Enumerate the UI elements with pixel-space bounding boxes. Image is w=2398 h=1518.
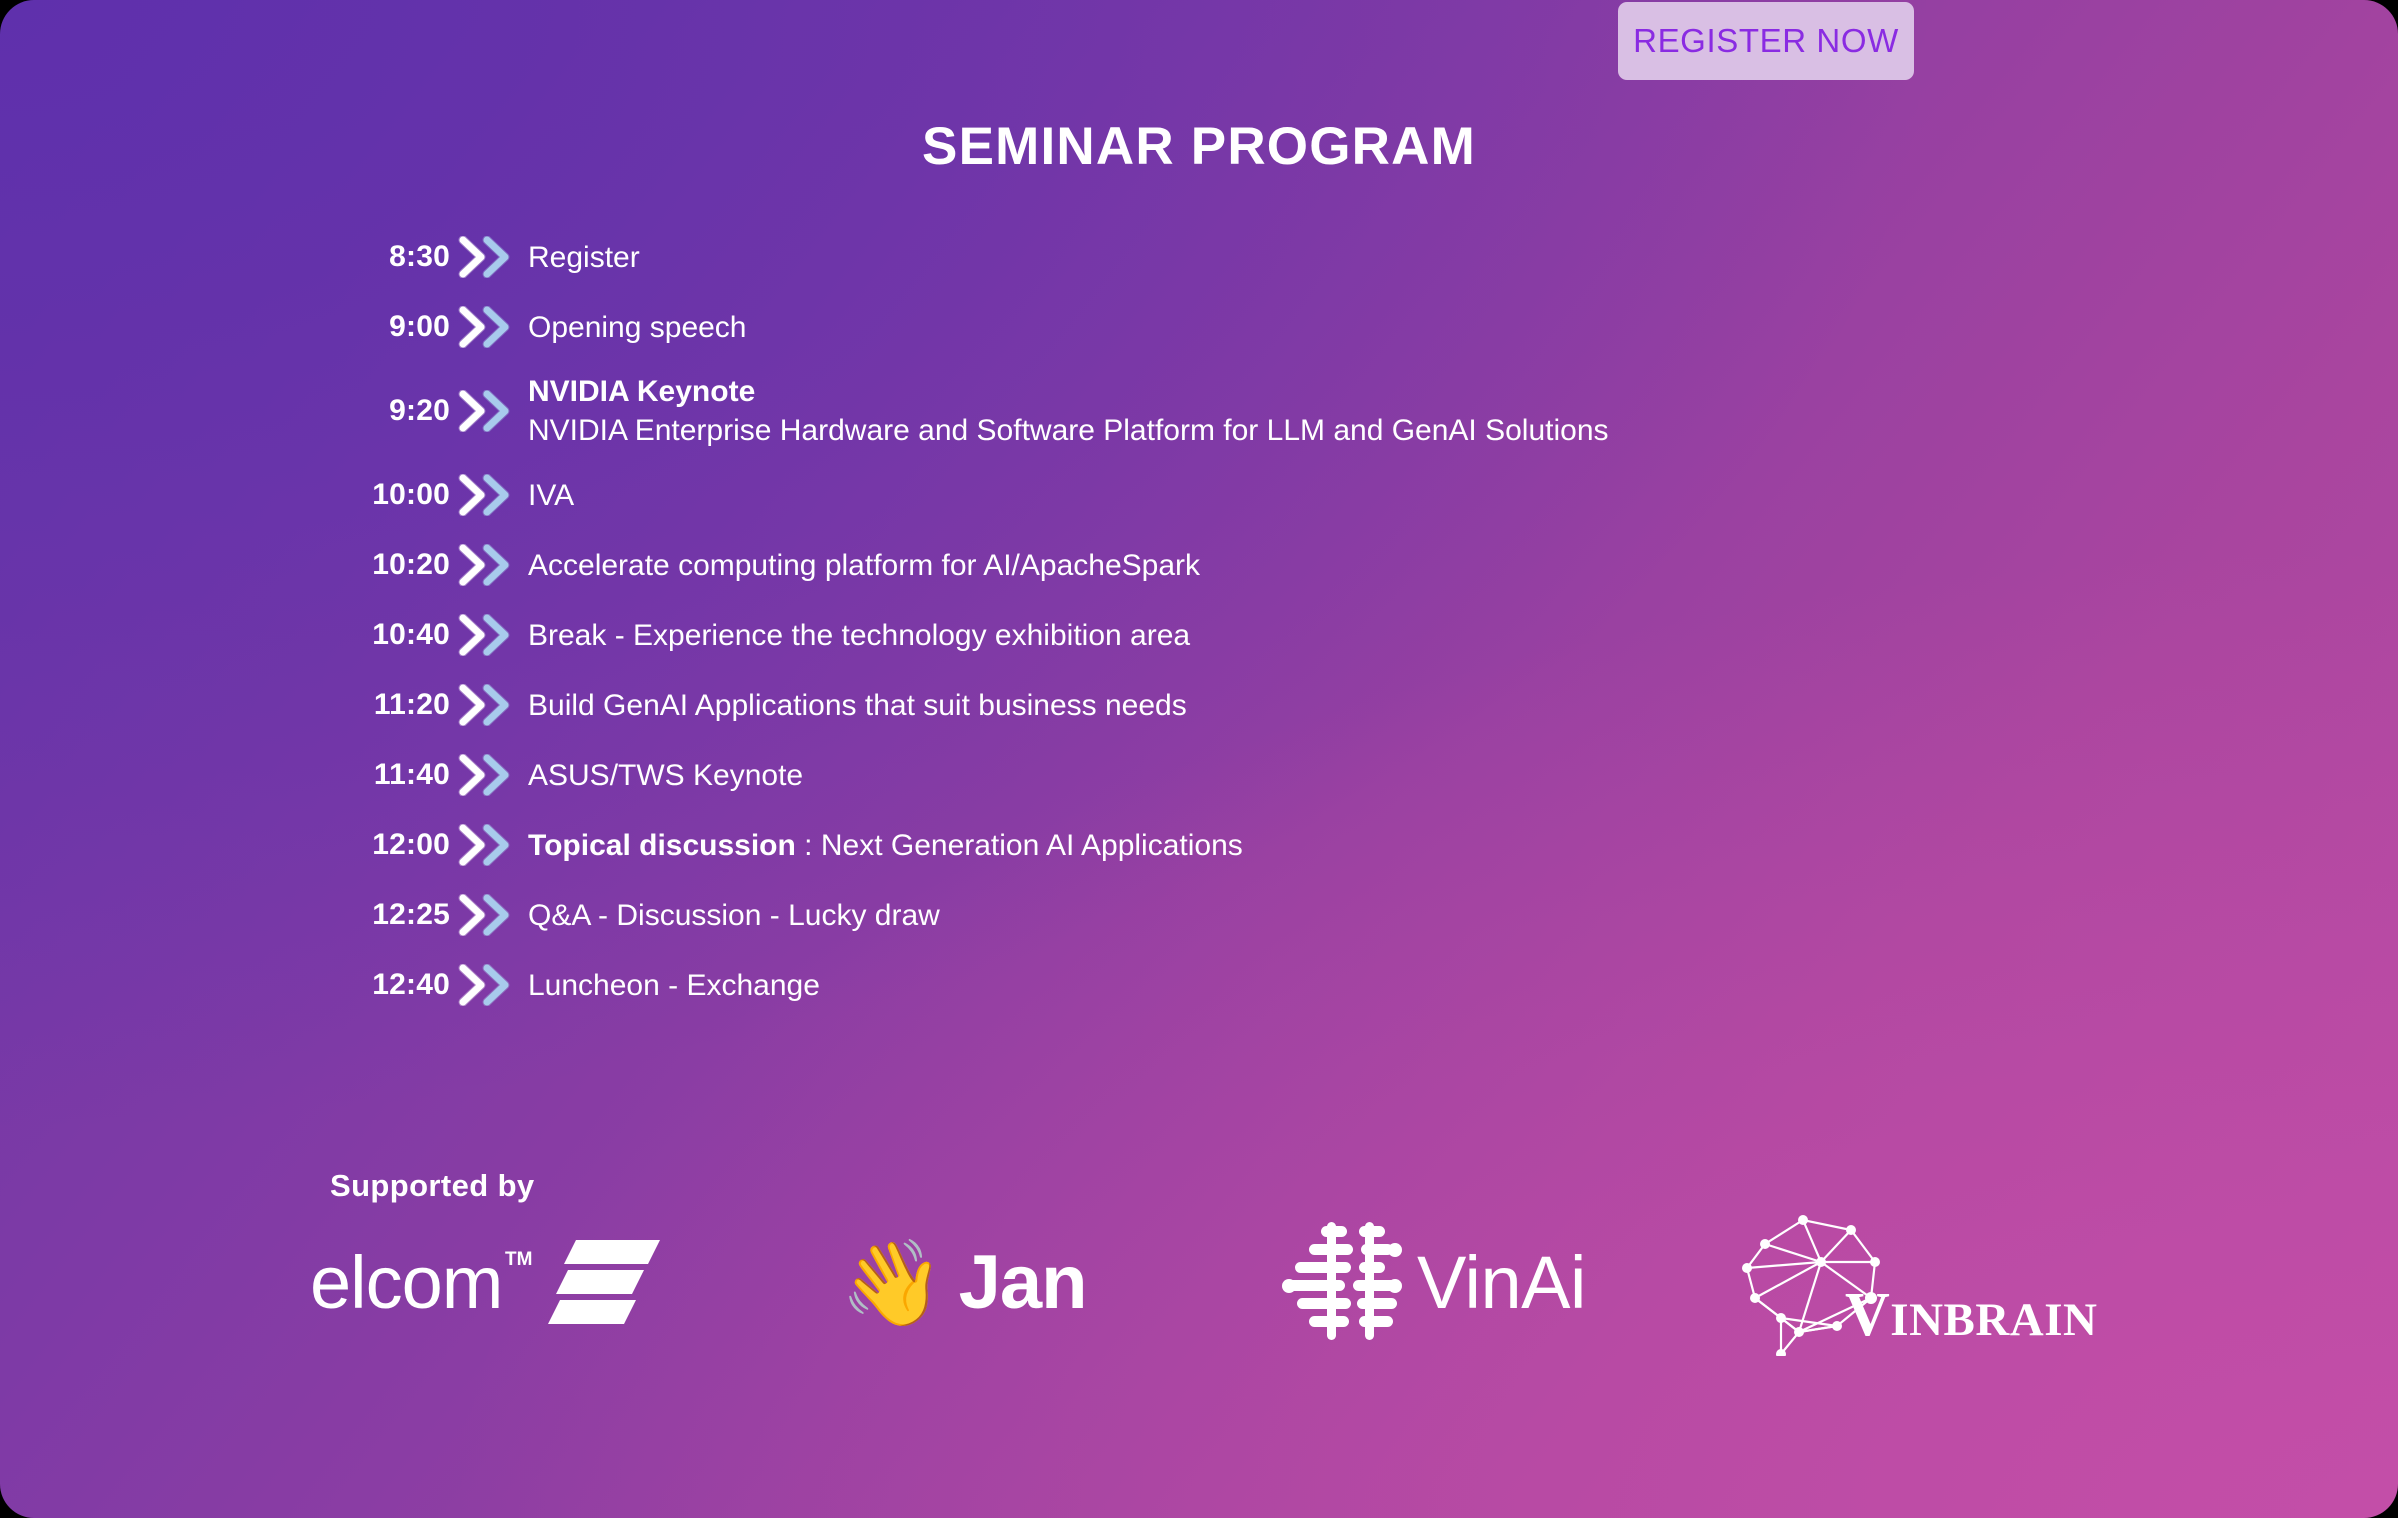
schedule-list: 8:30Register9:00Opening speech9:20NVIDIA… <box>330 222 2030 1020</box>
schedule-row-title-rest: : Next Generation AI Applications <box>796 829 1243 862</box>
schedule-row-time: 8:30 <box>330 240 450 274</box>
double-chevron-right-icon <box>450 824 522 866</box>
schedule-row-subtitle: NVIDIA Enterprise Hardware and Software … <box>528 411 2030 450</box>
double-chevron-right-icon <box>450 684 522 726</box>
double-chevron-right-icon <box>450 306 522 348</box>
double-chevron-right-icon <box>450 390 522 432</box>
schedule-row-title: ASUS/TWS Keynote <box>528 759 803 792</box>
schedule-row-description: Break - Experience the technology exhibi… <box>522 616 2030 655</box>
sponsor-logo-jan: 👋 Jan <box>840 1208 1087 1358</box>
double-chevron-right-icon <box>450 236 522 278</box>
elcom-e-mark-icon <box>548 1238 660 1329</box>
schedule-row-time: 12:00 <box>330 828 450 862</box>
elcom-wordmark: elcom TM <box>310 1246 502 1320</box>
schedule-row-title: Luncheon - Exchange <box>528 969 820 1002</box>
schedule-row-description: IVA <box>522 476 2030 515</box>
schedule-row: 8:30Register <box>330 222 2030 292</box>
schedule-row: 10:40Break - Experience the technology e… <box>330 600 2030 670</box>
register-now-button[interactable]: REGISTER NOW <box>1618 2 1914 80</box>
vinai-wordmark: VinAi <box>1417 1246 1586 1320</box>
waving-hand-icon: 👋 <box>840 1241 945 1325</box>
schedule-row: 9:20NVIDIA KeynoteNVIDIA Enterprise Hard… <box>330 362 2030 460</box>
page-title: SEMINAR PROGRAM <box>0 116 2398 177</box>
schedule-row-time: 10:00 <box>330 478 450 512</box>
schedule-row: 12:00Topical discussion : Next Generatio… <box>330 810 2030 880</box>
elcom-trademark-icon: TM <box>505 1250 532 1269</box>
vinai-circuit-mark-icon <box>1275 1222 1403 1345</box>
schedule-row-time: 12:25 <box>330 898 450 932</box>
elcom-wordmark-text: elcom <box>310 1241 502 1324</box>
sponsor-logo-vinai: VinAi <box>1275 1208 1586 1358</box>
double-chevron-right-icon <box>450 964 522 1006</box>
sponsor-logo-elcom: elcom TM <box>310 1208 660 1358</box>
jan-wordmark: Jan <box>959 1245 1087 1321</box>
vinbrain-wordmark: VINBRAIN <box>1845 1284 2097 1346</box>
supported-by-label: Supported by <box>330 1168 535 1204</box>
schedule-row-time: 10:40 <box>330 618 450 652</box>
schedule-row-title: Q&A - Discussion - Lucky draw <box>528 899 940 932</box>
schedule-row-title: Build GenAI Applications that suit busin… <box>528 689 1187 722</box>
schedule-row-title: NVIDIA Keynote <box>528 375 755 408</box>
schedule-row-time: 10:20 <box>330 548 450 582</box>
double-chevron-right-icon <box>450 894 522 936</box>
schedule-row-time: 9:20 <box>330 394 450 428</box>
sponsor-logo-vinbrain: VINBRAIN <box>1725 1208 2097 1358</box>
schedule-row-description: Topical discussion : Next Generation AI … <box>522 826 2030 865</box>
schedule-row: 12:40Luncheon - Exchange <box>330 950 2030 1020</box>
schedule-row-title: IVA <box>528 479 574 512</box>
schedule-row: 11:40ASUS/TWS Keynote <box>330 740 2030 810</box>
schedule-row-title: Register <box>528 241 640 274</box>
vinbrain-wordmark-rest: INBRAIN <box>1890 1294 2097 1346</box>
schedule-row: 10:20Accelerate computing platform for A… <box>330 530 2030 600</box>
schedule-row: 11:20Build GenAI Applications that suit … <box>330 670 2030 740</box>
double-chevron-right-icon <box>450 614 522 656</box>
sponsor-logos: elcom TM 👋 Jan <box>300 1208 2150 1358</box>
schedule-row-time: 12:40 <box>330 968 450 1002</box>
schedule-row: 10:00IVA <box>330 460 2030 530</box>
schedule-row-description: Build GenAI Applications that suit busin… <box>522 686 2030 725</box>
schedule-row-description: Luncheon - Exchange <box>522 966 2030 1005</box>
schedule-row-time: 11:20 <box>330 688 450 722</box>
schedule-row-title: Accelerate computing platform for AI/Apa… <box>528 549 1200 582</box>
vinbrain-wordmark-cap: V <box>1845 1281 1890 1349</box>
schedule-row-description: Opening speech <box>522 308 2030 347</box>
schedule-row-time: 9:00 <box>330 310 450 344</box>
schedule-row-description: Register <box>522 238 2030 277</box>
double-chevron-right-icon <box>450 544 522 586</box>
schedule-row-title: Topical discussion <box>528 829 796 862</box>
schedule-row-description: Accelerate computing platform for AI/Apa… <box>522 546 2030 585</box>
schedule-row-description: Q&A - Discussion - Lucky draw <box>522 896 2030 935</box>
schedule-row: 9:00Opening speech <box>330 292 2030 362</box>
seminar-program-page: REGISTER NOW SEMINAR PROGRAM 8:30Registe… <box>0 0 2398 1518</box>
schedule-row-title: Break - Experience the technology exhibi… <box>528 619 1190 652</box>
schedule-row: 12:25Q&A - Discussion - Lucky draw <box>330 880 2030 950</box>
double-chevron-right-icon <box>450 474 522 516</box>
schedule-row-description: ASUS/TWS Keynote <box>522 756 2030 795</box>
schedule-row-title: Opening speech <box>528 311 747 344</box>
schedule-row-time: 11:40 <box>330 758 450 792</box>
double-chevron-right-icon <box>450 754 522 796</box>
schedule-row-description: NVIDIA KeynoteNVIDIA Enterprise Hardware… <box>522 372 2030 450</box>
